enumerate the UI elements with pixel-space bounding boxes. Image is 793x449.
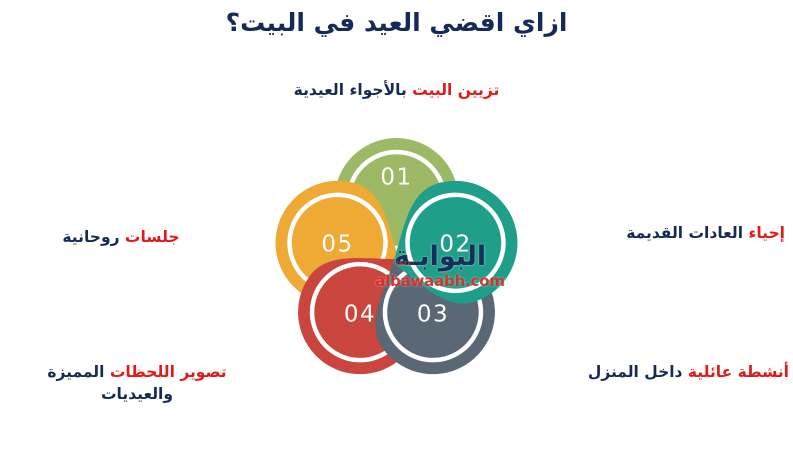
infographic-canvas: ازاي اقضي العيد في البيت؟ (0, 0, 793, 449)
marker-label-03-highlight: أنشطة عائلية (688, 363, 789, 381)
marker-label-02-rest: العادات القديمة (626, 224, 748, 242)
marker-label-04: تصوير اللحظات المميزة والعيديات (6, 361, 268, 406)
marker-label-01-highlight: تزيين البيت (412, 81, 499, 99)
marker-label-03: أنشطة عائلية داخل المنزل (521, 361, 789, 383)
marker-label-04-highlight: تصوير اللحظات (110, 363, 227, 381)
pin-number-02: 02 (439, 232, 471, 258)
marker-label-05: جلسات روحانية (6, 226, 236, 248)
marker-label-02-highlight: إحياء (748, 224, 785, 242)
pin-number-01: 01 (380, 165, 412, 191)
marker-label-02: إحياء العادات القديمة (567, 222, 785, 244)
pin-number-04: 04 (344, 302, 376, 328)
marker-label-03-rest: داخل المنزل (588, 363, 688, 381)
marker-label-05-highlight: جلسات (125, 228, 180, 246)
pin-number-03: 03 (417, 302, 449, 328)
pin-number-05: 05 (321, 232, 353, 258)
marker-label-01: تزيين البيت بالأجواء العيدية (0, 79, 793, 101)
marker-label-01-rest: بالأجواء العيدية (294, 81, 412, 99)
marker-label-05-rest: روحانية (62, 228, 125, 246)
